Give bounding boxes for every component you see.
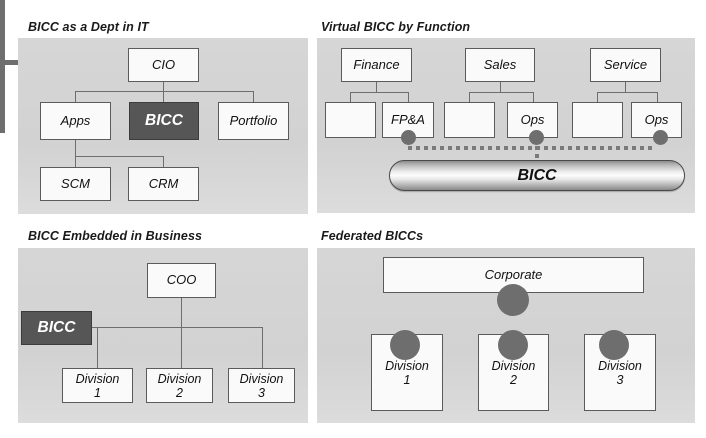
connector-cio-bus: [75, 91, 253, 92]
division-number: 2: [176, 386, 183, 400]
connector-sales-bus: [469, 92, 533, 93]
node-finance[interactable]: Finance: [341, 48, 412, 82]
connector-service-bus: [597, 92, 657, 93]
division-number: 3: [258, 386, 265, 400]
federation-dot-division3: [599, 330, 629, 360]
connector-apps-bus: [75, 156, 163, 157]
node-portfolio[interactable]: Portfolio: [218, 102, 289, 140]
node-apps[interactable]: Apps: [40, 102, 111, 140]
connector-finance-right: [408, 92, 409, 102]
division-label: Division: [158, 372, 202, 386]
node-crm[interactable]: CRM: [128, 167, 199, 201]
panel-title-dept-in-it: BICC as a Dept in IT: [28, 20, 149, 34]
connector-sales-left: [469, 92, 470, 102]
node-service[interactable]: Service: [590, 48, 661, 82]
connector-dot-sales-ops: [529, 130, 544, 145]
node-bicc-business[interactable]: BICC: [21, 311, 92, 345]
connector-federated-right: [0, 99, 5, 133]
node-bicc-it[interactable]: BICC: [129, 102, 199, 140]
connector-sales-right: [533, 92, 534, 102]
connector-service-right: [657, 92, 658, 102]
node-finance-sub-blank[interactable]: [325, 102, 376, 138]
node-sales-sub-blank[interactable]: [444, 102, 495, 138]
connector-federated-left: [0, 65, 5, 99]
division-label: Division: [598, 359, 642, 373]
connector-finance-left: [350, 92, 351, 102]
connector-coo-down: [181, 298, 182, 368]
division-label: Division: [385, 359, 429, 373]
connector-dot-service-ops: [653, 130, 668, 145]
division-number: 2: [510, 373, 517, 387]
node-sales[interactable]: Sales: [465, 48, 535, 82]
connector-to-division3: [262, 327, 263, 368]
node-division-1-business[interactable]: Division 1: [62, 368, 133, 403]
node-coo[interactable]: COO: [147, 263, 216, 298]
federation-dot-division1: [390, 330, 420, 360]
division-number: 1: [404, 373, 411, 387]
division-number: 3: [617, 373, 624, 387]
federation-dot-division2: [498, 330, 528, 360]
division-number: 1: [94, 386, 101, 400]
connector-dot-fpa: [401, 130, 416, 145]
division-label: Division: [492, 359, 536, 373]
panel-title-virtual-by-function: Virtual BICC by Function: [321, 20, 470, 34]
connector-cio-down: [163, 82, 164, 103]
federation-dot-corporate: [497, 284, 529, 316]
connector-finance-bus: [350, 92, 408, 93]
node-division-2-business[interactable]: Division 2: [146, 368, 213, 403]
connector-to-division1: [97, 327, 98, 368]
node-bicc-bar[interactable]: BICC: [389, 160, 685, 191]
panel-title-federated-biccs: Federated BICCs: [321, 229, 423, 243]
node-cio[interactable]: CIO: [128, 48, 199, 82]
connector-apps-down: [75, 140, 76, 167]
division-label: Division: [240, 372, 284, 386]
connector-bicc-bus: [92, 327, 262, 328]
division-label: Division: [76, 372, 120, 386]
panel-title-embedded-in-business: BICC Embedded in Business: [28, 229, 202, 243]
virtual-link-dotted: [408, 146, 653, 150]
connector-to-crm: [163, 156, 164, 167]
node-service-sub-blank[interactable]: [572, 102, 623, 138]
node-scm[interactable]: SCM: [40, 167, 111, 201]
connector-service-left: [597, 92, 598, 102]
figure-canvas: BICC as a Dept in IT CIO Apps BICC Portf…: [0, 0, 706, 438]
connector-corporate-down: [0, 0, 5, 60]
node-division-3-business[interactable]: Division 3: [228, 368, 295, 403]
